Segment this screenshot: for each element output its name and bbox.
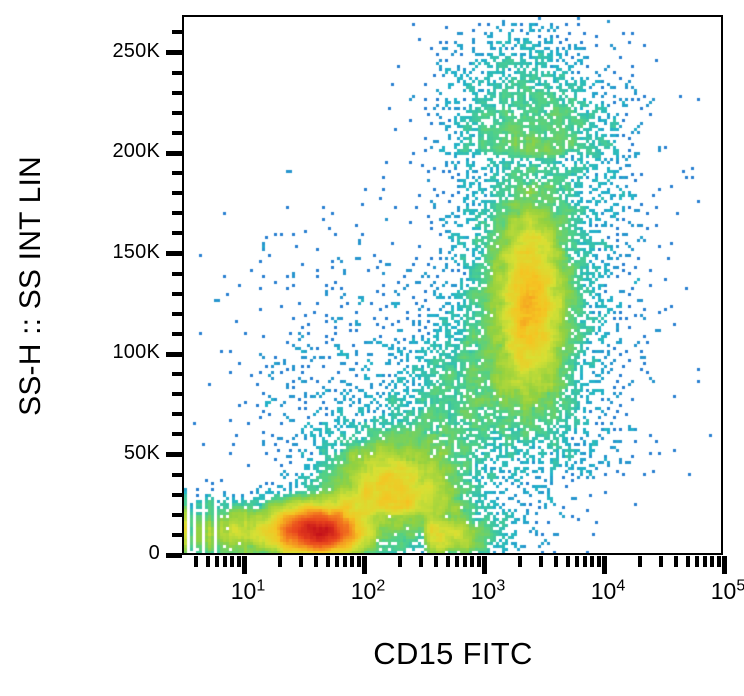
flow-cytometry-plot: SS-H :: SS INT LIN 050K100K150K200K250K … <box>0 0 744 696</box>
y-tick-minor <box>172 111 182 115</box>
x-tick-minor <box>710 556 714 567</box>
density-scatter-canvas <box>184 17 723 555</box>
y-tick-minor <box>172 392 182 396</box>
x-tick-label: 105 <box>711 578 744 605</box>
y-tick-minor <box>172 211 182 215</box>
y-tick-label: 50K <box>100 442 160 465</box>
y-tick-minor <box>172 372 182 376</box>
x-tick-minor <box>470 556 474 567</box>
x-tick-minor <box>477 556 481 567</box>
y-axis-tick-labels: 050K100K150K200K250K <box>90 0 160 696</box>
x-tick-label: 103 <box>471 578 506 605</box>
x-tick-minor <box>230 556 234 567</box>
x-tick-major <box>362 556 367 574</box>
x-tick-minor <box>278 556 282 567</box>
x-tick-minor <box>194 556 198 567</box>
y-tick-major <box>166 352 182 357</box>
y-tick-label: 200K <box>100 140 160 163</box>
y-tick-minor <box>172 171 182 175</box>
x-tick-minor <box>638 556 642 567</box>
x-tick-minor <box>446 556 450 567</box>
x-axis-title: CD15 FITC <box>182 636 724 672</box>
x-tick-minor <box>350 556 354 567</box>
x-tick-minor <box>299 556 303 567</box>
y-tick-major <box>166 151 182 156</box>
x-tick-minor <box>357 556 361 567</box>
y-tick-major <box>166 452 182 457</box>
y-tick-minor <box>172 473 182 477</box>
x-tick-minor <box>463 556 467 567</box>
x-tick-minor <box>554 556 558 567</box>
x-tick-minor <box>237 556 241 567</box>
x-tick-minor <box>695 556 699 567</box>
y-tick-minor <box>172 231 182 235</box>
x-tick-minor <box>518 556 522 567</box>
x-tick-label: 102 <box>351 578 386 605</box>
y-tick-major <box>166 50 182 55</box>
x-tick-minor <box>717 556 721 567</box>
x-tick-label: 104 <box>591 578 626 605</box>
x-tick-minor <box>206 556 210 567</box>
x-tick-minor <box>343 556 347 567</box>
y-tick-minor <box>172 432 182 436</box>
x-tick-minor <box>419 556 423 567</box>
y-tick-label: 250K <box>100 40 160 63</box>
y-axis-title: SS-H :: SS INT LIN <box>8 6 54 566</box>
y-tick-minor <box>172 493 182 497</box>
y-tick-minor <box>172 30 182 34</box>
x-tick-major <box>242 556 247 574</box>
y-tick-minor <box>172 191 182 195</box>
y-tick-label: 100K <box>100 341 160 364</box>
x-tick-major <box>482 556 487 574</box>
x-tick-minor <box>314 556 318 567</box>
y-tick-minor <box>172 312 182 316</box>
x-tick-minor <box>335 556 339 567</box>
x-tick-major <box>722 556 727 574</box>
plot-area[interactable] <box>182 15 723 555</box>
x-tick-minor <box>223 556 227 567</box>
x-tick-minor <box>566 556 570 567</box>
x-tick-minor <box>434 556 438 567</box>
x-tick-minor <box>703 556 707 567</box>
y-tick-major <box>166 251 182 256</box>
y-tick-label: 150K <box>100 241 160 264</box>
y-tick-minor <box>172 533 182 537</box>
x-tick-minor <box>326 556 330 567</box>
y-tick-minor <box>172 91 182 95</box>
y-tick-minor <box>172 71 182 75</box>
x-tick-minor <box>398 556 402 567</box>
x-tick-minor <box>455 556 459 567</box>
y-tick-label: 0 <box>100 542 160 565</box>
x-tick-minor <box>597 556 601 567</box>
x-tick-minor <box>590 556 594 567</box>
x-tick-major <box>602 556 607 574</box>
x-tick-minor <box>686 556 690 567</box>
x-tick-minor <box>575 556 579 567</box>
x-tick-minor <box>539 556 543 567</box>
y-tick-minor <box>172 412 182 416</box>
x-tick-minor <box>215 556 219 567</box>
y-tick-minor <box>172 292 182 296</box>
x-tick-label: 101 <box>231 578 266 605</box>
x-tick-minor <box>659 556 663 567</box>
y-tick-minor <box>172 131 182 135</box>
y-tick-major <box>166 553 182 558</box>
x-tick-minor <box>674 556 678 567</box>
y-tick-minor <box>172 272 182 276</box>
y-tick-minor <box>172 332 182 336</box>
y-tick-minor <box>172 513 182 517</box>
x-tick-minor <box>583 556 587 567</box>
